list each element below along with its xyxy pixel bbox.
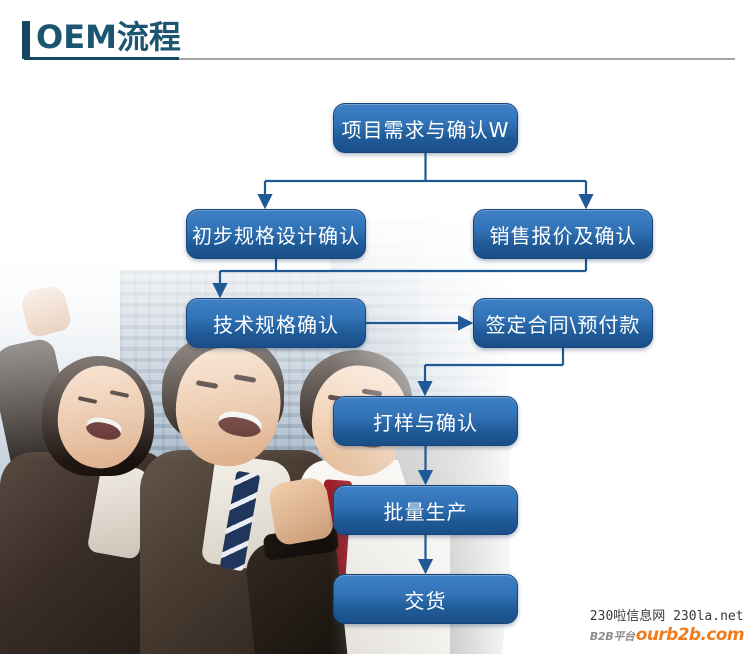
watermark-platform-prefix: B2B平台 bbox=[590, 631, 635, 644]
slide-canvas: OEM流程 bbox=[0, 0, 750, 654]
flow-node-sales-quote[interactable]: 销售报价及确认 bbox=[473, 209, 653, 259]
flow-node-delivery[interactable]: 交货 bbox=[333, 574, 518, 624]
watermark-platform: B2B平台 ourb2b.com bbox=[590, 626, 744, 646]
flow-node-sampling[interactable]: 打样与确认 bbox=[333, 396, 518, 446]
flow-node-requirement[interactable]: 项目需求与确认W bbox=[333, 103, 518, 153]
watermark-site: 230啦信息网 230la.net bbox=[590, 610, 744, 625]
watermark-platform-domain: ourb2b.com bbox=[636, 626, 744, 646]
flow-node-tech-spec[interactable]: 技术规格确认 bbox=[186, 298, 366, 348]
flow-node-mass-production[interactable]: 批量生产 bbox=[333, 485, 518, 535]
flow-node-contract[interactable]: 签定合同\预付款 bbox=[473, 298, 653, 348]
flow-node-spec-design[interactable]: 初步规格设计确认 bbox=[186, 209, 366, 259]
watermark: 230啦信息网 230la.net B2B平台 ourb2b.com bbox=[590, 610, 744, 646]
flow-chart: 项目需求与确认W 初步规格设计确认 销售报价及确认 技术规格确认 签定合同\预付… bbox=[0, 0, 750, 654]
